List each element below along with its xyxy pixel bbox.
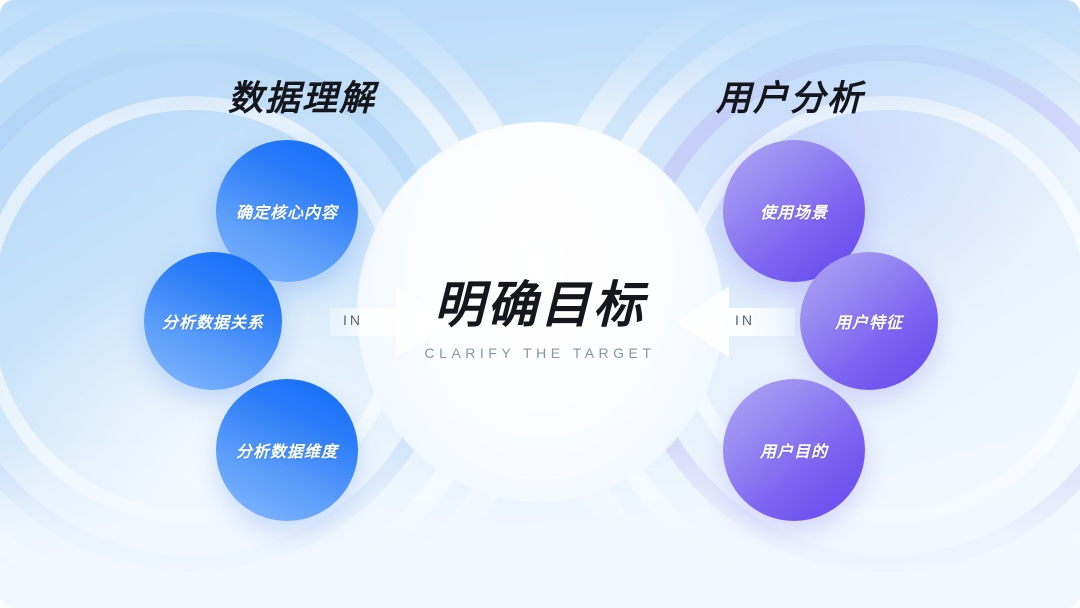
bubble-right-2-label: 用户特征 [835, 309, 903, 333]
bubble-right-2[interactable]: 用户特征 [800, 252, 938, 390]
group-heading-right: 用户分析 [716, 70, 864, 121]
bubble-left-2[interactable]: 分析数据关系 [144, 252, 282, 390]
bubble-left-1-label: 确定核心内容 [236, 199, 338, 223]
center-subtitle: CLARIFY THE TARGET [330, 345, 750, 361]
bubble-right-3[interactable]: 用户目的 [723, 379, 865, 521]
center-text-block: 明确目标 CLARIFY THE TARGET [330, 279, 750, 361]
group-heading-left: 数据理解 [228, 70, 376, 121]
bubble-left-3[interactable]: 分析数据维度 [216, 379, 358, 521]
infographic-canvas: 数据理解 用户分析 确定核心内容 分析数据关系 分析数据维度 使用场景 用户特征… [0, 0, 1080, 608]
bubble-right-1-label: 使用场景 [760, 199, 828, 223]
center-title: 明确目标 [330, 279, 750, 332]
bubble-right-3-label: 用户目的 [760, 438, 828, 462]
bubble-left-2-label: 分析数据关系 [162, 309, 264, 333]
bubble-left-3-label: 分析数据维度 [236, 438, 338, 462]
